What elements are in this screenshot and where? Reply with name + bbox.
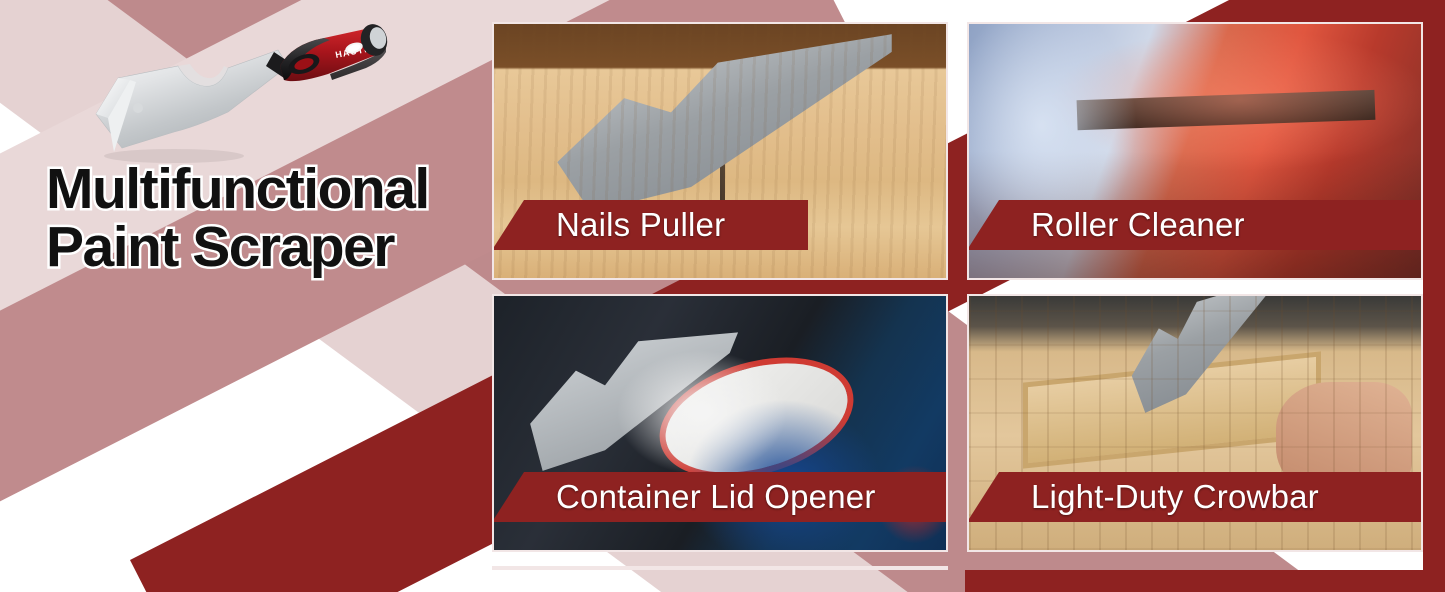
- accent-bar-top-right: [1245, 0, 1445, 20]
- feature-card-container-lid-opener[interactable]: Container Lid Opener: [492, 294, 948, 552]
- scraper-blade-detail: [557, 34, 891, 212]
- page-title-line-1: Multifunctional: [46, 157, 429, 221]
- scraper-blade-detail: [1132, 294, 1268, 413]
- feature-label-light-duty-crowbar: Light-Duty Crowbar: [967, 472, 1423, 522]
- feature-label-container-lid-opener: Container Lid Opener: [492, 472, 948, 522]
- feature-card-hammer-head[interactable]: Hammer Head: [492, 566, 948, 570]
- page-title-line-2: Paint Scraper: [46, 218, 429, 276]
- feature-grid: Nails Puller Roller Cleaner Container Li…: [492, 22, 1423, 570]
- feature-label-roller-cleaner: Roller Cleaner: [967, 200, 1423, 250]
- roller-tool-detail: [1077, 90, 1376, 131]
- accent-bar-bottom-right: [965, 570, 1445, 592]
- paint-scraper-illustration: HAUTMEC: [78, 22, 388, 172]
- accent-bar-right: [1423, 0, 1445, 592]
- feature-card-light-duty-crowbar[interactable]: Light-Duty Crowbar: [967, 294, 1423, 552]
- nail-head-detail: [711, 136, 733, 150]
- page-title: Multifunctional Paint Scraper: [46, 160, 429, 276]
- hero-section: HAUTMEC Multifunctional Paint Scraper: [0, 0, 480, 300]
- feature-card-roller-cleaner[interactable]: Roller Cleaner: [967, 22, 1423, 280]
- feature-card-nails-puller[interactable]: Nails Puller: [492, 22, 948, 280]
- crate-lid-detail: [1023, 351, 1321, 469]
- product-image-paint-scraper: HAUTMEC: [78, 22, 388, 172]
- scraper-blade-detail: [530, 326, 738, 473]
- feature-label-nails-puller: Nails Puller: [492, 200, 808, 250]
